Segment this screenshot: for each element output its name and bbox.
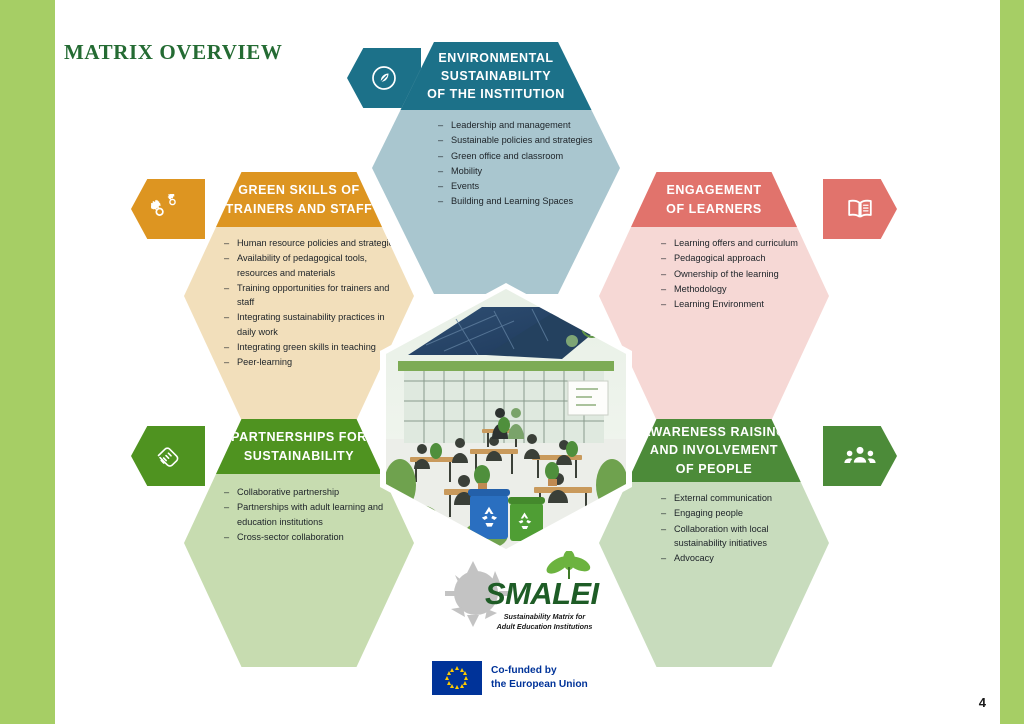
eu-star: [463, 671, 467, 675]
eu-badge-line-1: Co-funded by: [491, 665, 557, 676]
center-illustration-hexagon: [380, 283, 632, 555]
list-item: Sustainable policies and strategies: [438, 133, 610, 147]
eu-star: [460, 684, 464, 688]
gears-icon-badge: [131, 179, 205, 239]
list-item: Availability of pedagogical tools, resou…: [224, 251, 406, 280]
hex-aware-item-list: External communication Engaging people C…: [661, 491, 821, 566]
right-accent-bar: [1000, 0, 1024, 724]
list-item: Integrating green skills in teaching: [224, 340, 406, 354]
handshake-icon-badge: [131, 426, 205, 486]
list-item: Training opportunities for trainers and …: [224, 281, 406, 310]
hex-partner-title-line-1: PARTNERSHIPS FOR: [231, 430, 367, 444]
eu-badge-line-2: the European Union: [491, 679, 588, 690]
hex-env-title-line-3: OF THE INSTITUTION: [427, 87, 565, 101]
list-item: Mobility: [438, 164, 610, 178]
hex-env-title-line-2: SUSTAINABILITY: [441, 69, 551, 83]
list-item: Pedagogical approach: [661, 251, 821, 265]
left-accent-bar: [0, 0, 55, 724]
hex-aware-header: AWARENESS RAISING AND INVOLVEMENT OF PEO…: [599, 419, 829, 482]
list-item: Human resource policies and strategies: [224, 236, 406, 250]
list-item: Green office and classroom: [438, 149, 610, 163]
hex-engage-header: ENGAGEMENT OF LEARNERS: [599, 172, 829, 227]
list-item: Engaging people: [661, 506, 821, 520]
logo-wordmark: SMALEI: [485, 576, 599, 612]
hex-partner-title-line-2: SUSTAINABILITY: [244, 449, 354, 463]
list-item: Advocacy: [661, 551, 821, 565]
people-group-icon: [842, 443, 878, 469]
list-item: Methodology: [661, 282, 821, 296]
list-item: Peer-learning: [224, 355, 406, 369]
list-item: Learning offers and curriculum: [661, 236, 821, 250]
hex-skills-title-line-1: GREEN SKILLS OF: [238, 183, 359, 197]
hex-env-title-line-1: ENVIRONMENTAL: [438, 51, 553, 65]
list-item: Partnerships with adult learning and edu…: [224, 500, 406, 529]
list-item: Collaboration with local sustainability …: [661, 522, 821, 551]
hex-green-skills[interactable]: GREEN SKILLS OF TRAINERS AND STAFF Human…: [184, 172, 414, 420]
hex-aware-title-line-3: OF PEOPLE: [676, 462, 753, 476]
hex-engagement-of-learners[interactable]: ENGAGEMENT OF LEARNERS Learning offers a…: [599, 172, 829, 420]
hex-awareness-raising[interactable]: AWARENESS RAISING AND INVOLVEMENT OF PEO…: [599, 419, 829, 667]
list-item: Collaborative partnership: [224, 485, 406, 499]
smalei-logo: SMALEI Sustainability Matrix for Adult E…: [443, 551, 598, 643]
list-item: Integrating sustainability practices in …: [224, 310, 406, 339]
hex-partner-item-list: Collaborative partnership Partnerships w…: [224, 485, 406, 545]
hex-partner-header: PARTNERSHIPS FOR SUSTAINABILITY: [184, 419, 414, 474]
list-item: Leadership and management: [438, 118, 610, 132]
handshake-icon: [152, 442, 184, 470]
eu-star: [447, 681, 451, 685]
eu-star: [450, 668, 454, 672]
list-item: Ownership of the learning: [661, 267, 821, 281]
hex-env-item-list: Leadership and management Sustainable po…: [438, 118, 610, 210]
logo-tagline: Sustainability Matrix for Adult Educatio…: [487, 612, 602, 631]
logo-tagline-line-1: Sustainability Matrix for: [504, 612, 585, 621]
eu-star: [445, 676, 449, 680]
hex-aware-title-line-1: AWARENESS RAISING: [642, 425, 787, 439]
gears-icon: [151, 194, 185, 224]
eu-funding-badge: Co-funded by the European Union: [432, 661, 588, 695]
eu-star: [463, 681, 467, 685]
eu-badge-text: Co-funded by the European Union: [491, 664, 588, 692]
hex-aware-title-line-2: AND INVOLVEMENT: [650, 443, 778, 457]
eu-star: [450, 684, 454, 688]
people-group-icon-badge: [823, 426, 897, 486]
list-item: Building and Learning Spaces: [438, 194, 610, 208]
logo-tagline-line-2: Adult Education Institutions: [497, 622, 593, 631]
list-item: Learning Environment: [661, 297, 821, 311]
eu-flag-icon: [432, 661, 482, 695]
hex-engage-title-line-2: OF LEARNERS: [666, 202, 762, 216]
open-book-icon-badge: [823, 179, 897, 239]
list-item: Cross-sector collaboration: [224, 530, 406, 544]
page-number: 4: [979, 695, 986, 710]
hex-partnerships-for-sustainability[interactable]: PARTNERSHIPS FOR SUSTAINABILITY Collabor…: [184, 419, 414, 667]
leaf-icon: [371, 65, 397, 91]
list-item: Events: [438, 179, 610, 193]
eu-star: [455, 666, 459, 670]
eu-star: [464, 676, 468, 680]
hex-skills-title-line-2: TRAINERS AND STAFF: [226, 202, 373, 216]
hex-engage-item-list: Learning offers and curriculum Pedagogic…: [661, 236, 821, 312]
eu-star: [455, 685, 459, 689]
page-title: MATRIX OVERVIEW: [64, 40, 282, 65]
hex-engage-title-line-1: ENGAGEMENT: [666, 183, 761, 197]
list-item: External communication: [661, 491, 821, 505]
eu-star: [447, 671, 451, 675]
open-book-icon: [844, 196, 876, 222]
green-classroom-illustration: [386, 289, 626, 549]
hex-skills-item-list: Human resource policies and strategies A…: [224, 236, 406, 370]
